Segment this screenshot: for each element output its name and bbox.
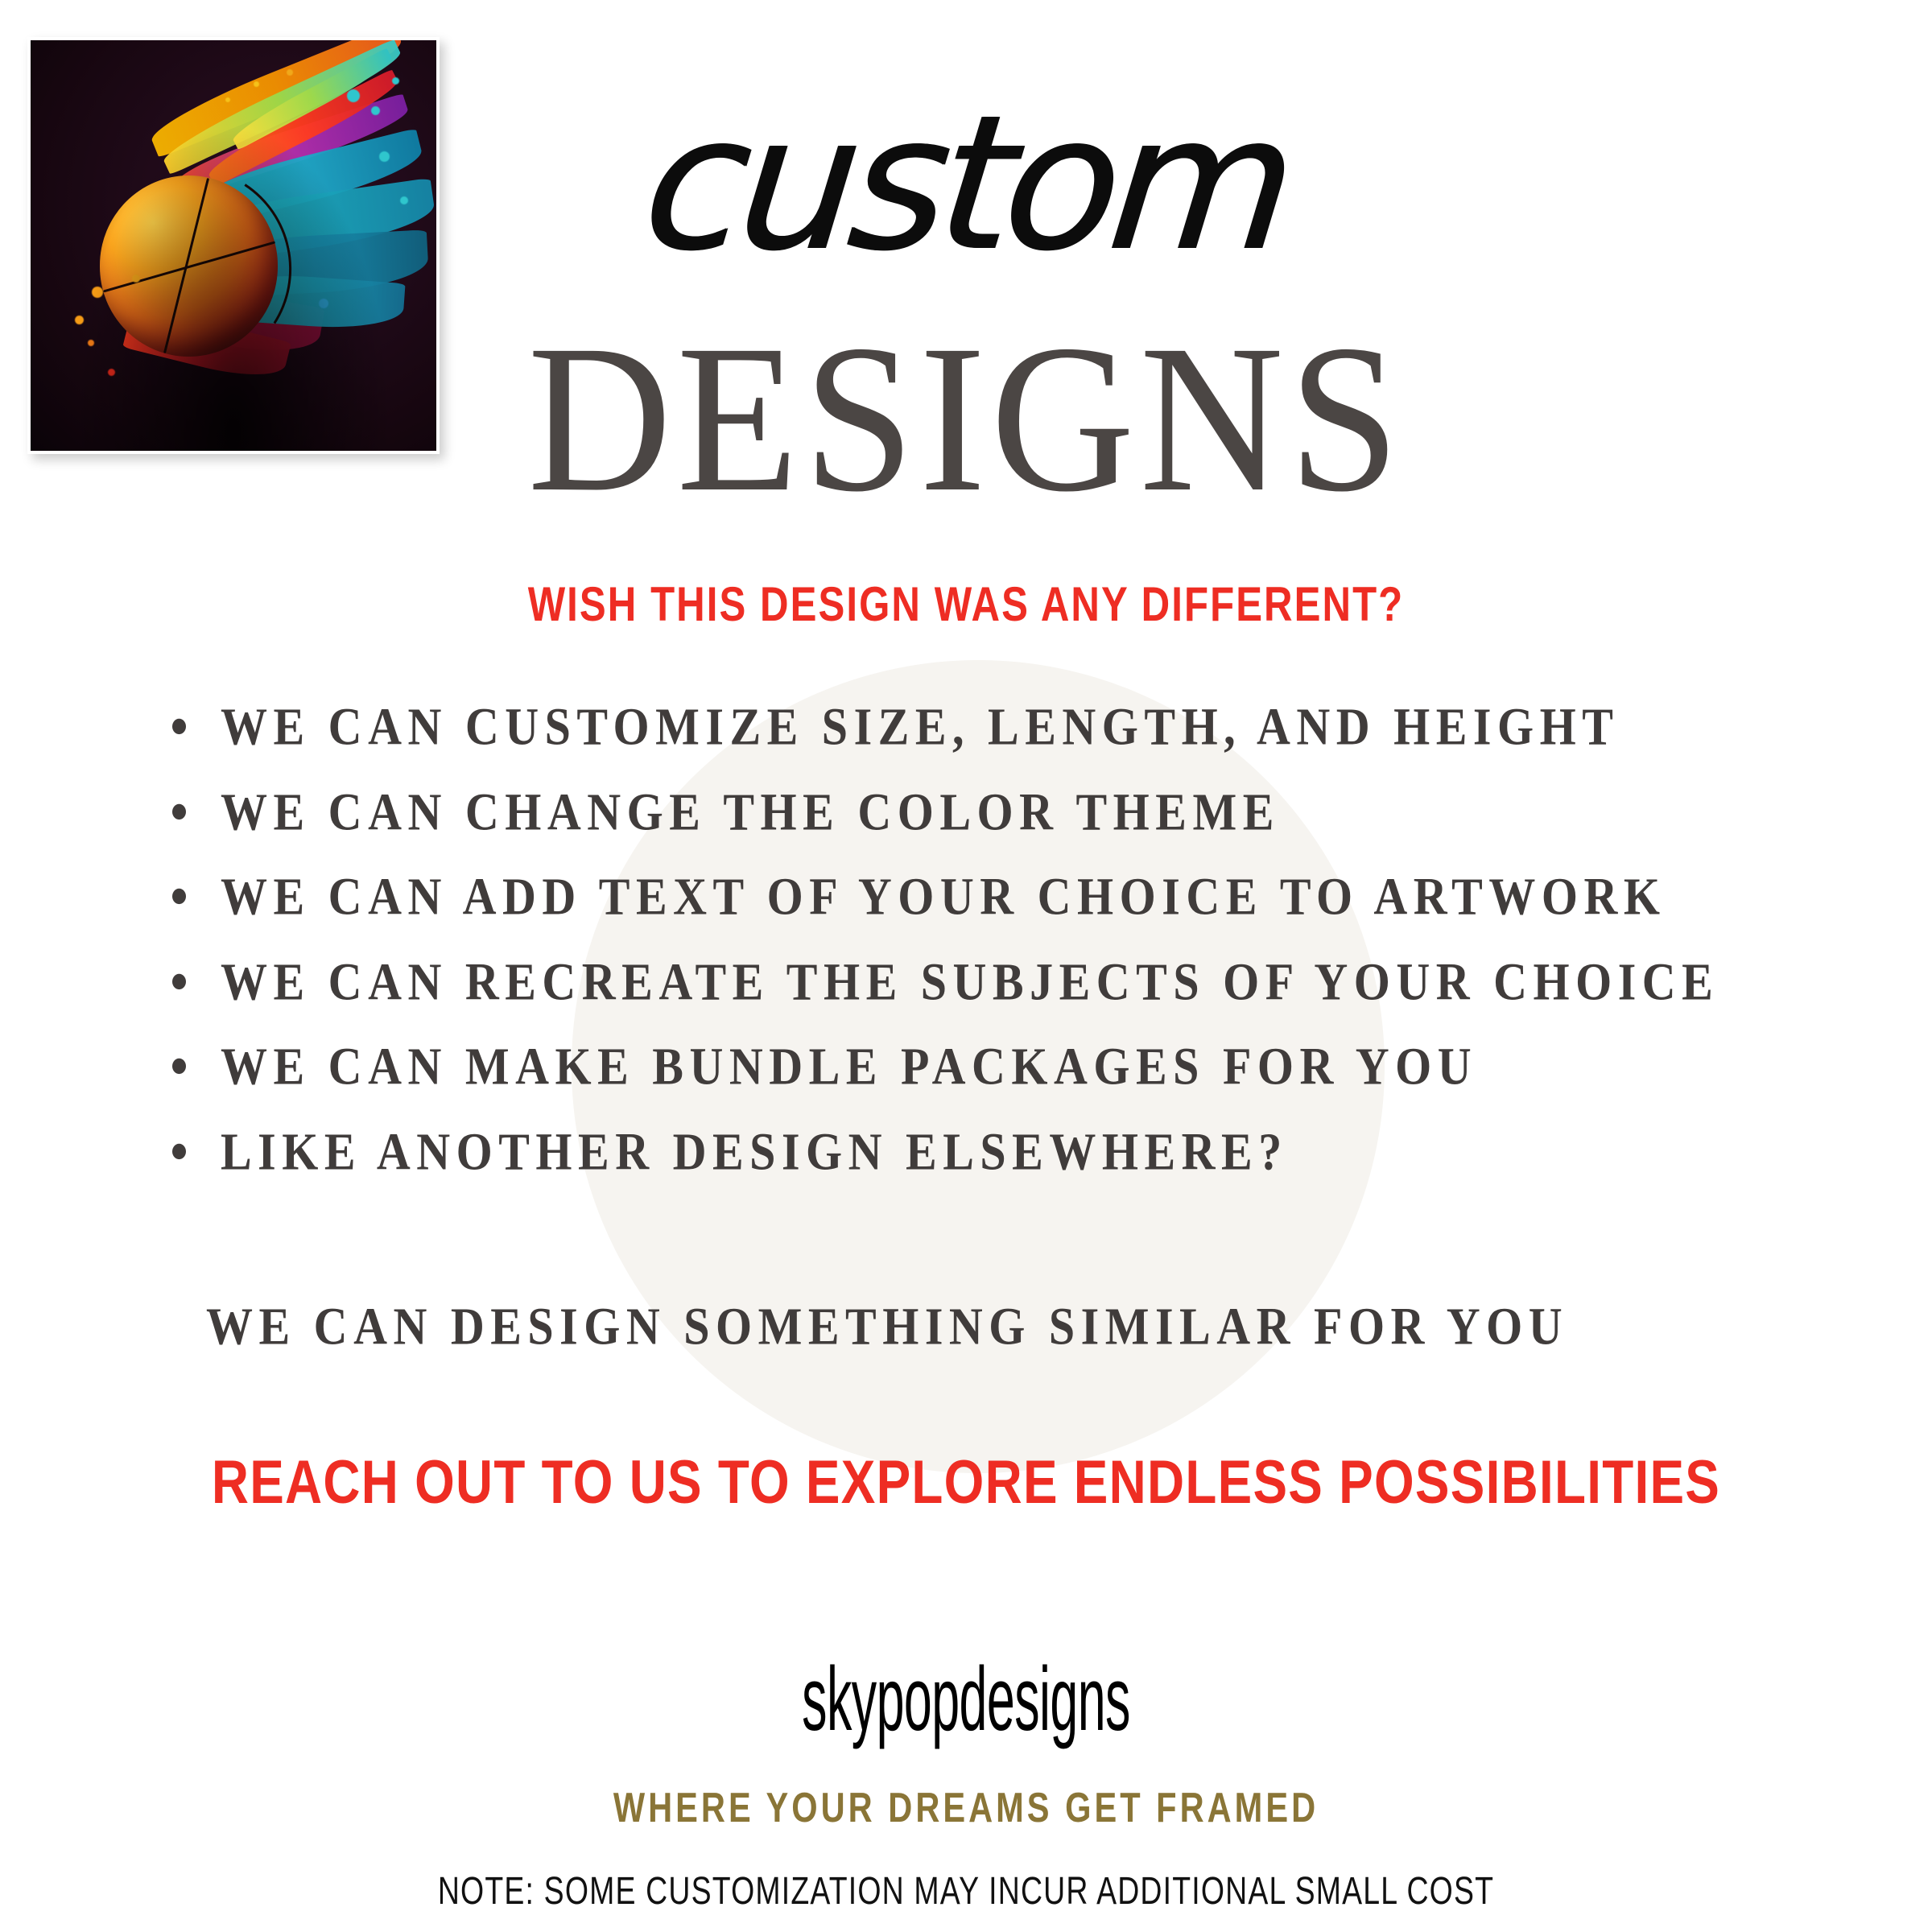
feature-list: WE CAN CUSTOMIZE SIZE, LENGTH, AND HEIGH…	[158, 699, 1848, 1209]
list-item: WE CAN MAKE BUNDLE PACKAGES FOR YOU	[158, 1035, 1848, 1099]
list-item: WE CAN CUSTOMIZE SIZE, LENGTH, AND HEIGH…	[158, 695, 1848, 758]
bullet-dot-icon	[172, 889, 186, 904]
list-item-label: LIKE ANOTHER DESIGN ELSEWHERE?	[221, 1121, 1288, 1181]
list-item-label: WE CAN CUSTOMIZE SIZE, LENGTH, AND HEIGH…	[221, 696, 1619, 756]
list-item: LIKE ANOTHER DESIGN ELSEWHERE?	[158, 1120, 1848, 1183]
bullet-dot-icon	[172, 973, 186, 989]
page-title: DESIGNS	[0, 313, 1932, 525]
list-item-label: WE CAN CHANGE THE COLOR THEME	[221, 782, 1280, 841]
script-title: custom	[0, 90, 1932, 277]
footer-note: NOTE: SOME CUSTOMIZATION MAY INCUR ADDIT…	[213, 1869, 1719, 1913]
list-item-label: WE CAN MAKE BUNDLE PACKAGES FOR YOU	[221, 1037, 1477, 1096]
list-item-label: WE CAN ADD TEXT OF YOUR CHOICE TO ARTWOR…	[221, 867, 1666, 927]
bullet-dot-icon	[172, 803, 186, 819]
list-item-label: WE CAN RECREATE THE SUBJECTS OF YOUR CHO…	[221, 952, 1719, 1011]
list-item: WE CAN RECREATE THE SUBJECTS OF YOUR CHO…	[158, 950, 1848, 1013]
subtitle-question: WISH THIS DESIGN WAS ANY DIFFERENT?	[174, 576, 1758, 632]
list-item: WE CAN CHANGE THE COLOR THEME	[158, 780, 1848, 844]
brand-tagline: WHERE YOUR DREAMS GET FRAMED	[193, 1784, 1739, 1832]
brand-logo-text: skypopdesigns	[425, 1647, 1507, 1751]
list-item-continuation: WE CAN DESIGN SOMETHING SIMILAR FOR YOU	[206, 1295, 1568, 1356]
bullet-dot-icon	[172, 1144, 186, 1159]
call-to-action-text: REACH OUT TO US TO EXPLORE ENDLESS POSSI…	[155, 1447, 1777, 1517]
bullet-dot-icon	[172, 719, 186, 734]
bullet-dot-icon	[172, 1059, 186, 1074]
list-item: WE CAN ADD TEXT OF YOUR CHOICE TO ARTWOR…	[158, 865, 1848, 928]
